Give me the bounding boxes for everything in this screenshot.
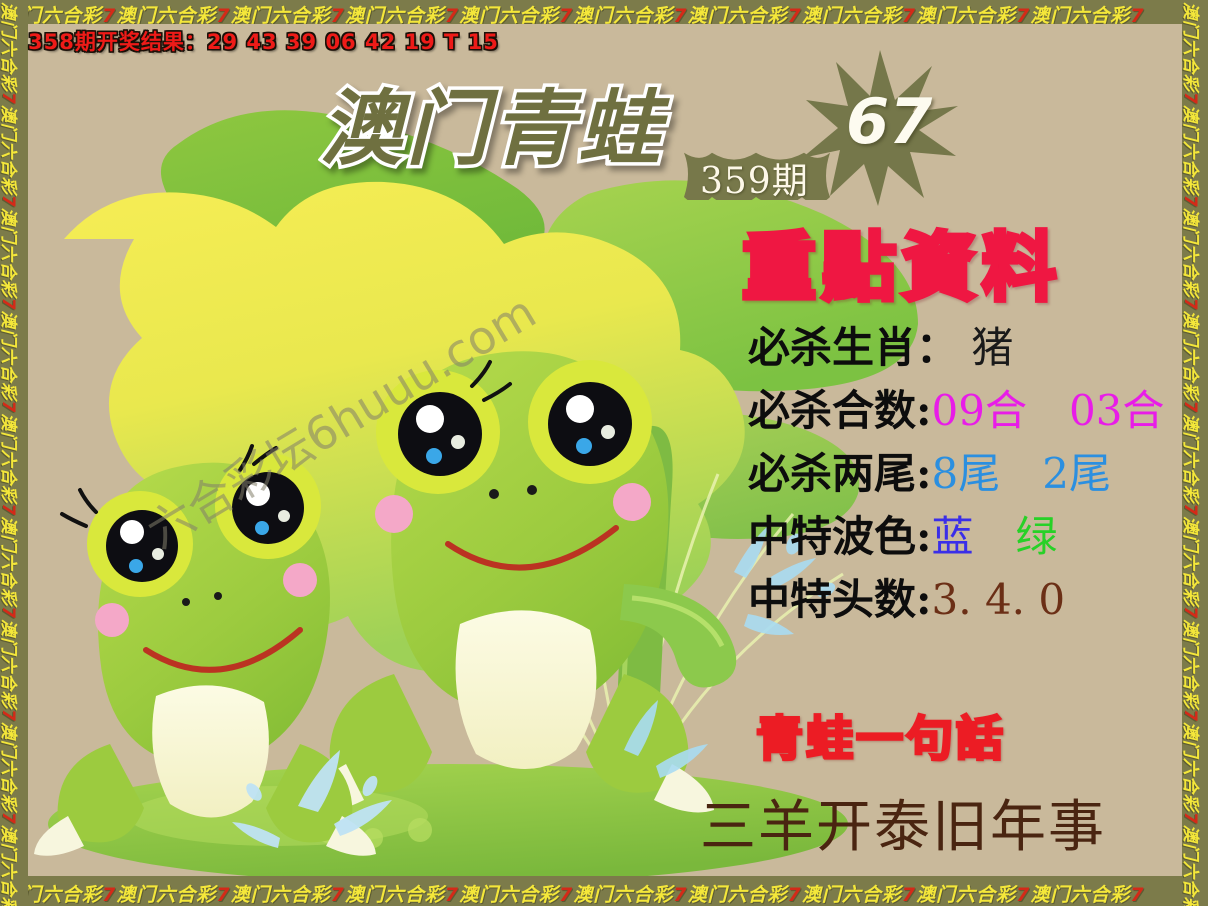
- value-separator: [1000, 449, 1042, 498]
- border-right: 澳门六合彩7澳门六合彩7澳门六合彩7澳门六合彩7澳门六合彩7澳门六合彩7澳门六合…: [1182, 0, 1208, 906]
- lottery-poster: 67 359期 澳门青蛙 358期开奖结果：29 43 39 06 42 19 …: [0, 0, 1208, 906]
- prediction-value-secondary: 绿: [1016, 512, 1058, 561]
- prediction-list: 必杀生肖： 猪必杀合数:09合 03合必杀两尾:8尾 2尾中特波色:蓝 绿中特头…: [748, 316, 1164, 631]
- page-title: 澳门青蛙: [320, 62, 664, 181]
- prediction-label: 必杀两尾:: [748, 449, 932, 498]
- prediction-value-primary: 09合: [932, 386, 1027, 435]
- prediction-label: 中特波色:: [748, 512, 932, 561]
- star-number: 67: [846, 85, 932, 158]
- prediction-row: 中特头数:3. 4. 0: [748, 568, 1164, 631]
- value-separator: [974, 512, 1016, 561]
- prediction-value-primary: 8尾: [932, 449, 1001, 498]
- value-separator: [1027, 386, 1069, 435]
- prediction-row: 必杀合数:09合 03合: [748, 379, 1164, 442]
- border-top: 澳门六合彩7澳门六合彩7澳门六合彩7澳门六合彩7澳门六合彩7澳门六合彩7澳门六合…: [0, 0, 1208, 24]
- quote-text: 三羊开泰旧年事: [700, 782, 1106, 863]
- prediction-value-secondary: 03合: [1069, 386, 1164, 435]
- prediction-value-primary: 猪: [958, 323, 1013, 372]
- prediction-label: 必杀生肖：: [748, 323, 958, 372]
- prediction-row: 必杀两尾:8尾 2尾: [748, 442, 1164, 505]
- section-heading: 重點資料: [742, 208, 1062, 315]
- prediction-label: 中特头数:: [748, 575, 932, 624]
- results-line: 358期开奖结果：29 43 39 06 42 19 T 15: [28, 26, 499, 56]
- prediction-label: 必杀合数:: [748, 386, 932, 435]
- border-left: 澳门六合彩7澳门六合彩7澳门六合彩7澳门六合彩7澳门六合彩7澳门六合彩7澳门六合…: [0, 0, 28, 906]
- prediction-row: 中特波色:蓝 绿: [748, 505, 1164, 568]
- prediction-value-secondary: 2尾: [1042, 449, 1111, 498]
- quote-title: 青蛙一句話: [756, 700, 1006, 769]
- prediction-value-primary: 3. 4. 0: [932, 575, 1066, 624]
- issue-number: 359期: [700, 152, 809, 204]
- border-bottom: 澳门六合彩7澳门六合彩7澳门六合彩7澳门六合彩7澳门六合彩7澳门六合彩7澳门六合…: [0, 876, 1208, 906]
- prediction-value-primary: 蓝: [932, 512, 974, 561]
- prediction-row: 必杀生肖： 猪: [748, 316, 1164, 379]
